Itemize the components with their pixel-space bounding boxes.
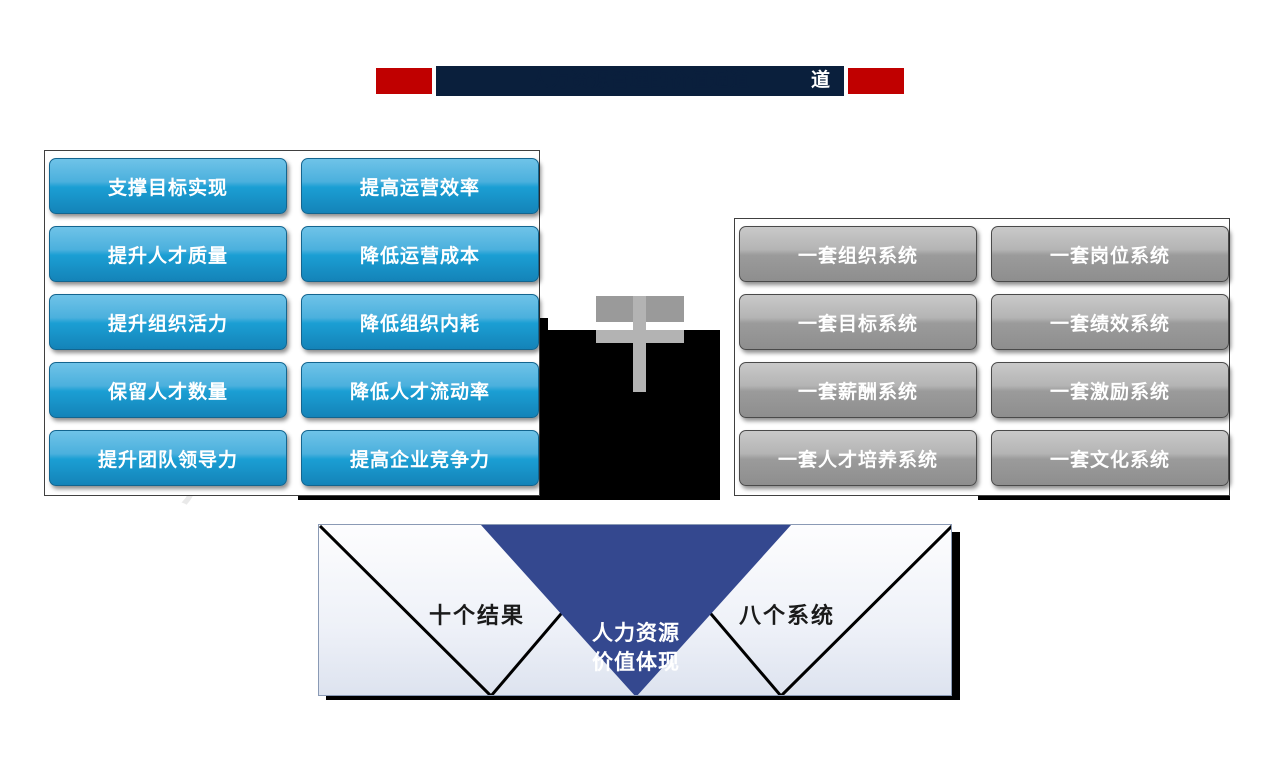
system-box[interactable]: 一套目标系统 [739, 294, 977, 350]
plus-horizontal-bar [596, 330, 684, 343]
plus-icon [596, 296, 684, 392]
plus-vertical-bar [633, 296, 646, 392]
result-box[interactable]: 保留人才数量 [49, 362, 287, 418]
system-box[interactable]: 一套组织系统 [739, 226, 977, 282]
title-text: 人力资源管理的价值通道 [436, 66, 844, 96]
result-box[interactable]: 降低人才流动率 [301, 362, 539, 418]
system-box[interactable]: 一套岗位系统 [991, 226, 1229, 282]
title-red-left-accent [376, 68, 432, 94]
result-box[interactable]: 支撑目标实现 [49, 158, 287, 214]
banner-center-label: 人力资源 价值体现 [526, 619, 746, 677]
result-box[interactable]: 降低组织内耗 [301, 294, 539, 350]
banner-right-label: 八个系统 [739, 598, 835, 630]
result-box[interactable]: 降低运营成本 [301, 226, 539, 282]
title-tail-char: 道 [811, 66, 830, 96]
system-box[interactable]: 一套绩效系统 [991, 294, 1229, 350]
result-box[interactable]: 提升团队领导力 [49, 430, 287, 486]
result-box[interactable]: 提升组织活力 [49, 294, 287, 350]
system-box[interactable]: 一套人才培养系统 [739, 430, 977, 486]
result-box[interactable]: 提升人才质量 [49, 226, 287, 282]
result-box[interactable]: 提高运营效率 [301, 158, 539, 214]
page-title: 人力资源管理的价值通道 道 [376, 66, 904, 96]
value-banner: 十个结果 八个系统 人力资源 价值体现 [318, 524, 952, 696]
system-box[interactable]: 一套文化系统 [991, 430, 1229, 486]
result-box[interactable]: 提高企业竞争力 [301, 430, 539, 486]
system-box[interactable]: 一套薪酬系统 [739, 362, 977, 418]
title-red-right-accent [848, 68, 904, 94]
banner-left-label: 十个结果 [429, 598, 525, 630]
system-box[interactable]: 一套激励系统 [991, 362, 1229, 418]
